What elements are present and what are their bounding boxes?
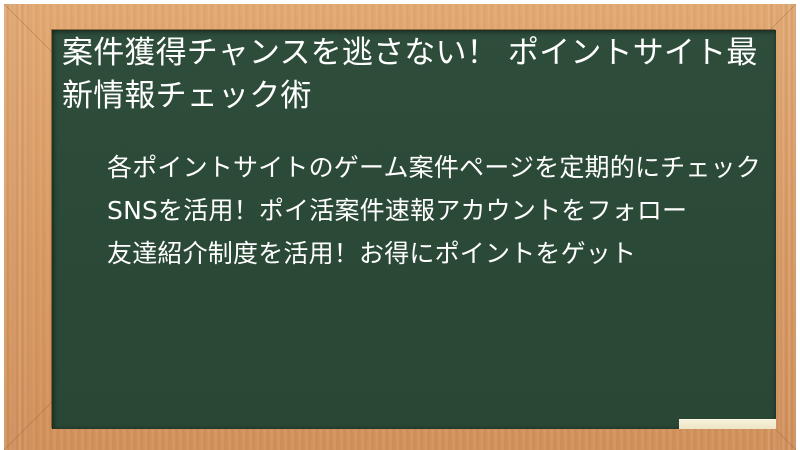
chalkboard: 案件獲得チャンスを逃さない！ ポイントサイト最新情報チェック術 各ポイントサイト… (52, 30, 776, 429)
slide-canvas: 案件獲得チャンスを逃さない！ ポイントサイト最新情報チェック術 各ポイントサイト… (0, 0, 800, 450)
bullet-item-2: SNSを活用！ポイ活案件速報アカウントをフォロー (62, 191, 768, 230)
chalk-eraser-icon (679, 419, 776, 429)
bullet-list: 各ポイントサイトのゲーム案件ページを定期的にチェック SNSを活用！ポイ活案件速… (62, 148, 768, 277)
frame-grain-left (4, 4, 32, 450)
bullet-item-1: 各ポイントサイトのゲーム案件ページを定期的にチェック (62, 148, 768, 187)
slide-title: 案件獲得チャンスを逃さない！ ポイントサイト最新情報チェック術 (62, 32, 768, 118)
bullet-item-3: 友達紹介制度を活用！お得にポイントをゲット (62, 234, 768, 273)
wooden-frame: 案件獲得チャンスを逃さない！ ポイントサイト最新情報チェック術 各ポイントサイト… (4, 4, 796, 450)
